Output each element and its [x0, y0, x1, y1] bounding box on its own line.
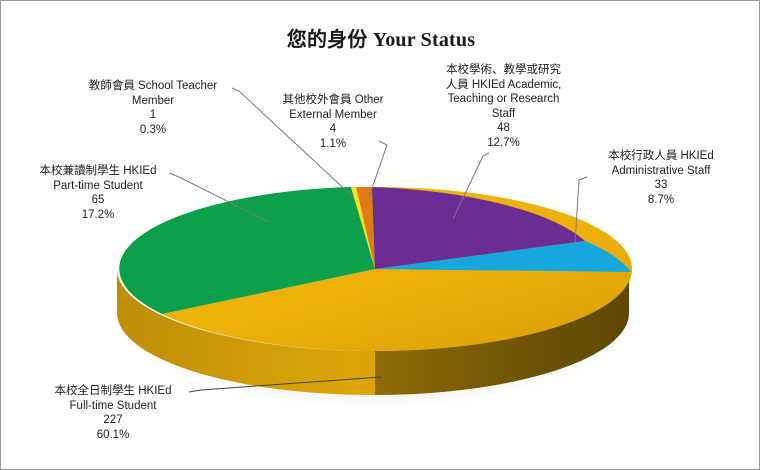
data-label-admin-name-en: Administrative Staff: [571, 164, 751, 179]
data-label-academic-percent: 12.7%: [421, 136, 586, 151]
chart-container: 您的身份 Your Status: [0, 0, 760, 470]
data-label-parttime-name-en: Part-time Student: [9, 179, 187, 194]
data-label-external-percent: 1.1%: [263, 137, 403, 152]
data-label-academic-value: 48: [421, 121, 586, 136]
data-label-academic-name-en: Teaching or Research: [421, 92, 586, 107]
data-label-fulltime: 本校全日制學生 HKIEd Full-time Student 227 60.1…: [19, 384, 207, 442]
data-label-parttime-value: 65: [9, 193, 187, 208]
data-label-fulltime-value: 227: [19, 413, 207, 428]
data-label-teacher-name-en: Member: [63, 94, 243, 109]
data-label-fulltime-name-cn: 本校全日制學生 HKIEd: [19, 384, 207, 399]
data-label-teacher-name-cn: 教師會員 School Teacher: [63, 79, 243, 94]
data-label-parttime-percent: 17.2%: [9, 208, 187, 223]
data-label-academic-name-cn: 本校學術、教學或研究: [421, 63, 586, 78]
data-label-admin-value: 33: [571, 178, 751, 193]
data-label-fulltime-percent: 60.1%: [19, 428, 207, 443]
data-label-external-value: 4: [263, 122, 403, 137]
data-label-admin-percent: 8.7%: [571, 193, 751, 208]
data-label-fulltime-name-en: Full-time Student: [19, 399, 207, 414]
data-label-admin: 本校行政人員 HKIEd Administrative Staff 33 8.7…: [571, 149, 751, 207]
data-label-admin-name-cn: 本校行政人員 HKIEd: [571, 149, 751, 164]
data-label-parttime-name-cn: 本校兼讀制學生 HKIEd: [9, 164, 187, 179]
data-label-academic-name-en2: Staff: [421, 107, 586, 122]
data-label-teacher-value: 1: [63, 108, 243, 123]
data-label-academic: 本校學術、教學或研究 人員 HKIEd Academic, Teaching o…: [421, 63, 586, 150]
data-label-external-name-cn: 其他校外會員 Other: [263, 93, 403, 108]
data-label-academic-name-cn2: 人員 HKIEd Academic,: [421, 78, 586, 93]
data-label-external-name-en: External Member: [263, 108, 403, 123]
data-label-teacher: 教師會員 School Teacher Member 1 0.3%: [63, 79, 243, 137]
data-label-parttime: 本校兼讀制學生 HKIEd Part-time Student 65 17.2%: [9, 164, 187, 222]
data-label-teacher-percent: 0.3%: [63, 123, 243, 138]
data-label-external: 其他校外會員 Other External Member 4 1.1%: [263, 93, 403, 151]
